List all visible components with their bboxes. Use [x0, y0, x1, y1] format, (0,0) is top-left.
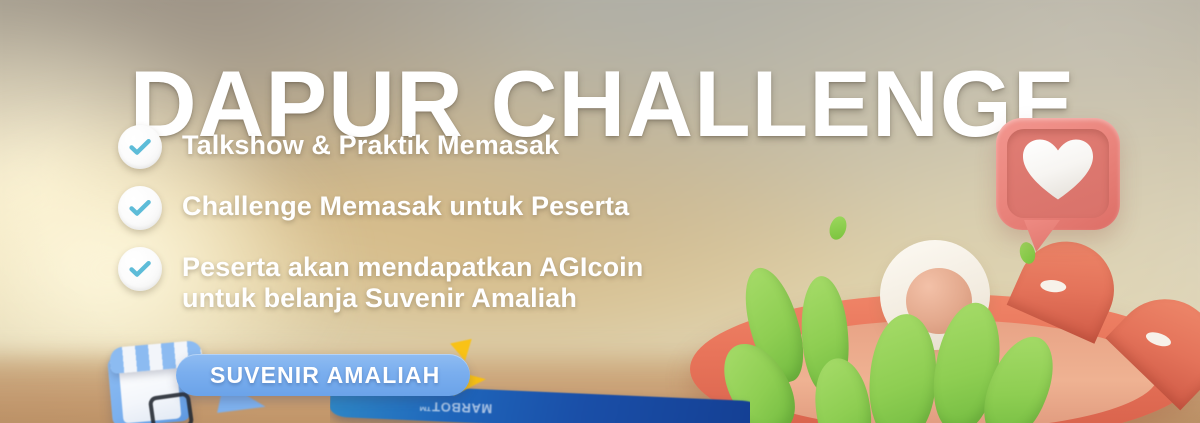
list-item-label: Peserta akan mendapatkan AGIcoin untuk b… — [182, 246, 643, 315]
storefront-accent — [148, 391, 195, 423]
list-item-label: Talkshow & Praktik Memasak — [182, 124, 559, 161]
list-item: Challenge Memasak untuk Peserta — [118, 185, 818, 230]
list-item: Talkshow & Praktik Memasak — [118, 124, 818, 169]
heart-speech-bubble-icon — [996, 118, 1120, 230]
strap-brand-label: MARBOT™ — [418, 399, 493, 417]
check-circle-icon — [118, 125, 162, 169]
heart-icon — [1021, 137, 1095, 206]
tomato-seed — [1040, 279, 1067, 294]
salad-bowl-illustration — [690, 248, 1200, 423]
check-circle-icon — [118, 247, 162, 291]
dapur-challenge-banner: DAPUR CHALLENGE Talkshow & Praktik Memas… — [0, 0, 1200, 423]
suvenir-amaliah-badge[interactable]: SUVENIR AMALIAH — [176, 354, 470, 396]
tomato-seed — [1144, 330, 1172, 349]
suvenir-amaliah-badge-label: SUVENIR AMALIAH — [210, 362, 440, 389]
list-item-label: Challenge Memasak untuk Peserta — [182, 185, 629, 222]
check-circle-icon — [118, 186, 162, 230]
